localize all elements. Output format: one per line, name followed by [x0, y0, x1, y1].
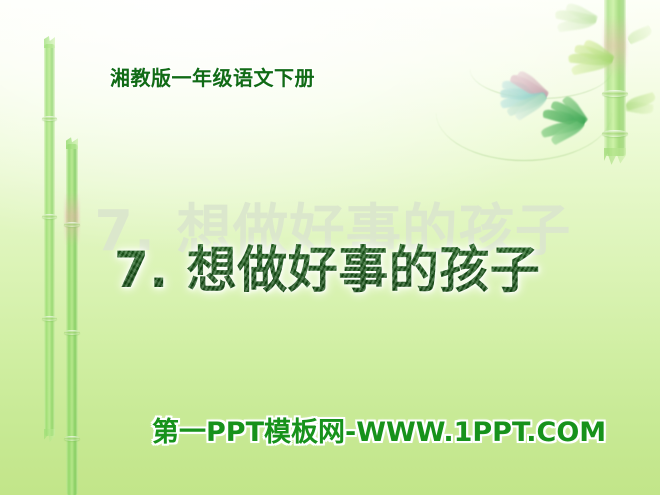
bamboo-stalk-left-upper [44, 44, 55, 436]
bamboo-stalk-left-lower [66, 144, 78, 495]
bamboo-tip-icon [44, 429, 55, 442]
bamboo-node-icon [42, 116, 57, 121]
bamboo-node-icon [602, 130, 628, 137]
bamboo-tip-icon [604, 148, 626, 166]
bamboo-tip-icon [44, 36, 55, 48]
slide-title-shadow: 7. 想做好事的孩子 [94, 186, 571, 267]
bamboo-node-icon [42, 316, 57, 321]
bamboo-node-icon [64, 222, 80, 227]
bamboo-tip-icon [66, 137, 78, 149]
bamboo-node-icon [42, 214, 57, 219]
slide-subtitle: 湘教版一年级语文下册 [110, 62, 315, 91]
presentation-slide: 湘教版一年级语文下册 7. 想做好事的孩子 7. 想做好事的孩子 第一PPT模板… [0, 0, 660, 495]
bamboo-blush [65, 192, 79, 246]
bamboo-node-icon [64, 330, 80, 335]
bamboo-node-icon [64, 436, 80, 441]
bamboo-leaf [626, 25, 654, 45]
slide-title: 7. 想做好事的孩子 [114, 230, 540, 302]
footer-watermark: 第一PPT模板网-WWW.1PPT.COM [152, 410, 606, 449]
